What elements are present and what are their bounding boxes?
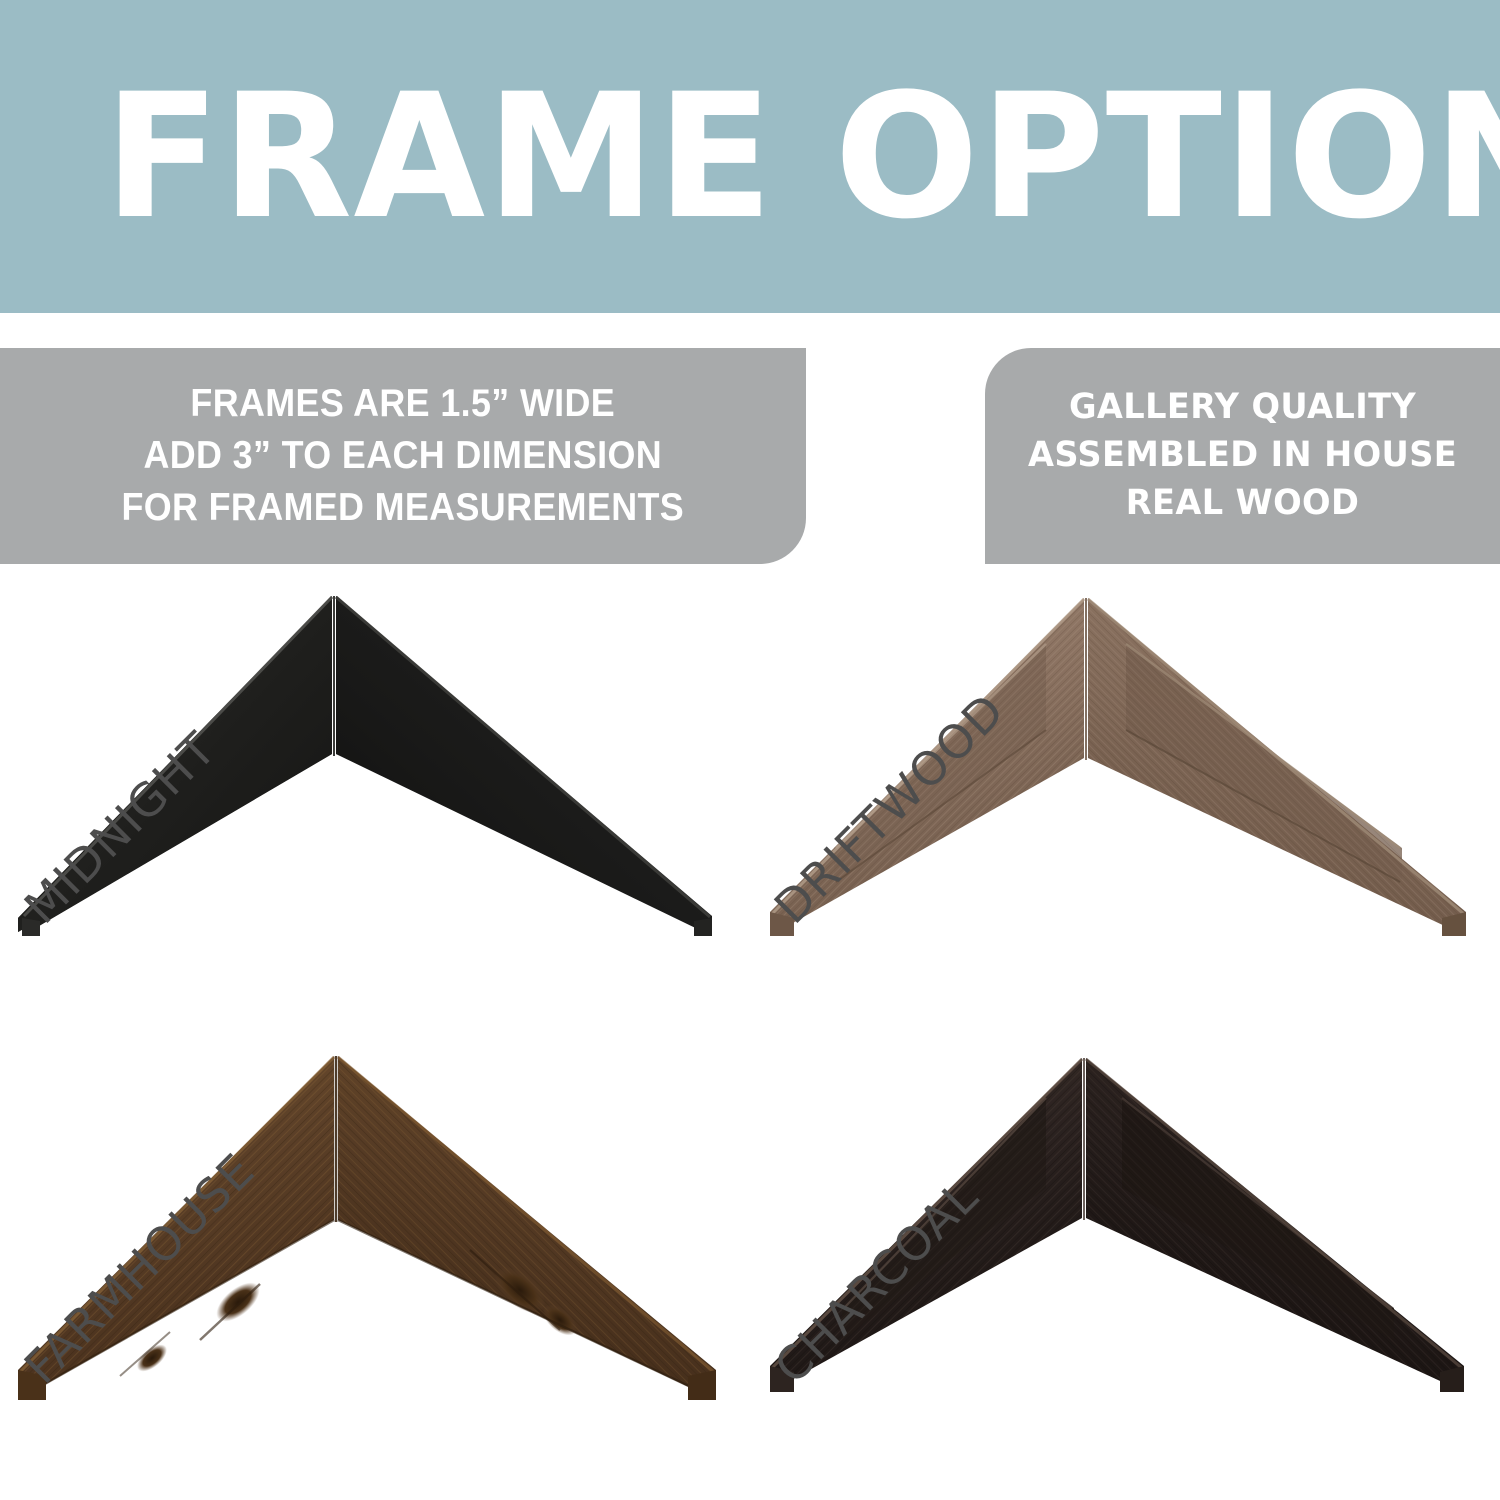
frame-option-midnight[interactable]: MIDNIGHT [0, 580, 750, 1040]
frame-option-driftwood[interactable]: DRIFTWOOD [750, 580, 1500, 1040]
frame-option-farmhouse[interactable]: FARMHOUSE [0, 1040, 750, 1500]
quality-info-text: GALLERY QUALITY ASSEMBLED IN HOUSE REAL … [1028, 384, 1457, 528]
header-banner: FRAME OPTIONS [0, 0, 1500, 313]
quality-line-3: REAL WOOD [1028, 480, 1457, 528]
quality-info-box: GALLERY QUALITY ASSEMBLED IN HOUSE REAL … [985, 348, 1500, 564]
quality-line-1: GALLERY QUALITY [1028, 384, 1457, 432]
frame-size-line-2: ADD 3” TO EACH DIMENSION [122, 430, 685, 482]
page-title: FRAME OPTIONS [104, 71, 1500, 243]
quality-line-2: ASSEMBLED IN HOUSE [1028, 432, 1457, 480]
frame-options-grid: MIDNIGHT [0, 580, 1500, 1500]
frame-size-info-text: FRAMES ARE 1.5” WIDE ADD 3” TO EACH DIME… [122, 378, 685, 534]
frame-option-charcoal[interactable]: CHARCOAL [750, 1040, 1500, 1500]
frame-size-line-3: FOR FRAMED MEASUREMENTS [122, 482, 685, 534]
frame-size-info-box: FRAMES ARE 1.5” WIDE ADD 3” TO EACH DIME… [0, 348, 806, 564]
frame-size-line-1: FRAMES ARE 1.5” WIDE [122, 378, 685, 430]
